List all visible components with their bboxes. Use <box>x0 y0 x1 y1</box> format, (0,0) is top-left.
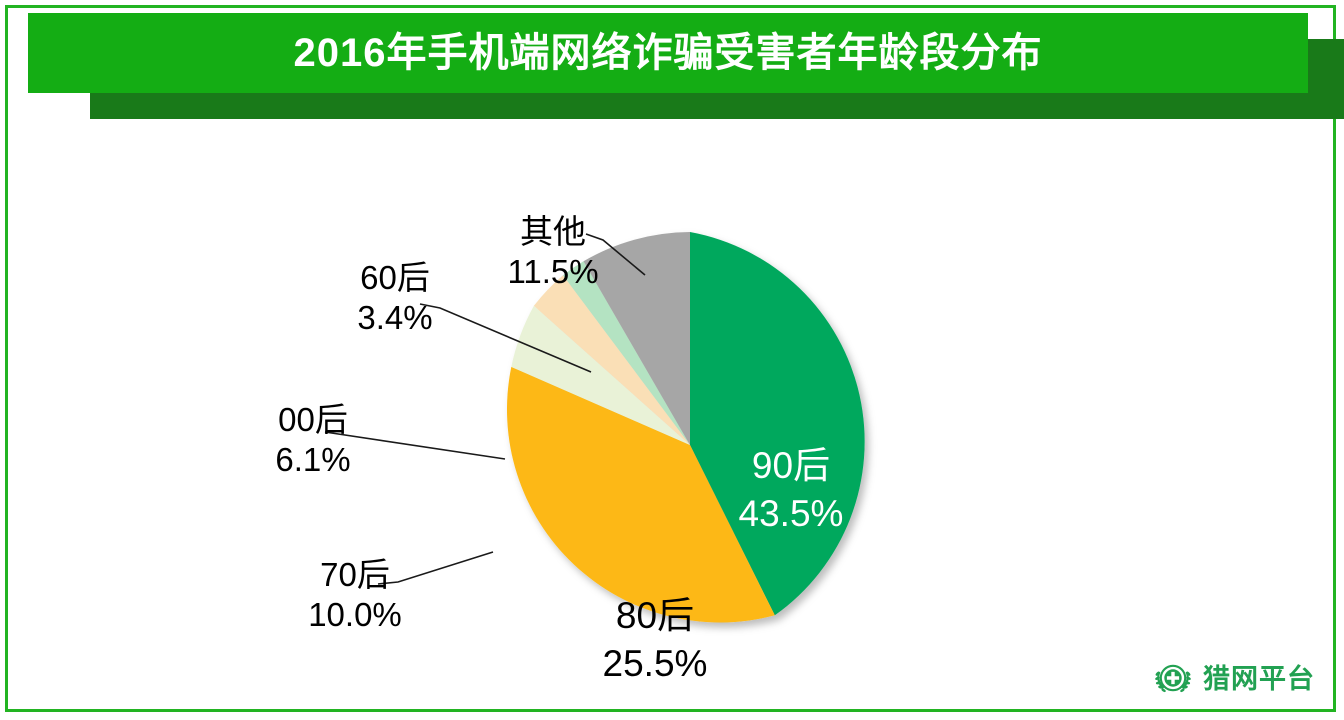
slice-label-80hou: 80后 25.5% <box>570 592 740 688</box>
pie-chart-svg <box>0 100 1344 660</box>
callout-label-70hou: 70后 10.0% <box>280 555 430 636</box>
callout-category-60hou: 60后 <box>320 258 470 298</box>
callout-label-other: 其他 11.5% <box>478 212 628 293</box>
callout-value-60hou: 3.4% <box>320 298 470 338</box>
logo-wordmark: 猎网平台 <box>1203 666 1315 693</box>
callout-label-60hou: 60后 3.4% <box>320 258 470 339</box>
title-banner: 2016年手机端网络诈骗受害者年龄段分布 <box>28 13 1308 93</box>
pie-chart: 其他 11.5% 60后 3.4% 00后 6.1% 70后 10.0% 90后… <box>0 100 1344 660</box>
callout-value-00hou: 6.1% <box>238 440 388 480</box>
slice-value-80hou: 25.5% <box>570 640 740 688</box>
footer-logo: 猎网平台 <box>1152 658 1315 700</box>
title-banner-plate: 2016年手机端网络诈骗受害者年龄段分布 <box>28 13 1308 93</box>
callout-value-70hou: 10.0% <box>280 595 430 635</box>
callout-category-other: 其他 <box>478 212 628 252</box>
callout-category-00hou: 00后 <box>238 400 388 440</box>
callout-category-70hou: 70后 <box>280 555 430 595</box>
slice-category-90hou: 90后 <box>706 442 876 490</box>
callout-value-other: 11.5% <box>478 252 628 292</box>
slice-category-80hou: 80后 <box>570 592 740 640</box>
shield-cross-wreath-icon <box>1152 658 1194 700</box>
page-title: 2016年手机端网络诈骗受害者年龄段分布 <box>294 33 1043 73</box>
callout-label-00hou: 00后 6.1% <box>238 400 388 481</box>
slice-label-90hou: 90后 43.5% <box>706 442 876 538</box>
slice-value-90hou: 43.5% <box>706 490 876 538</box>
